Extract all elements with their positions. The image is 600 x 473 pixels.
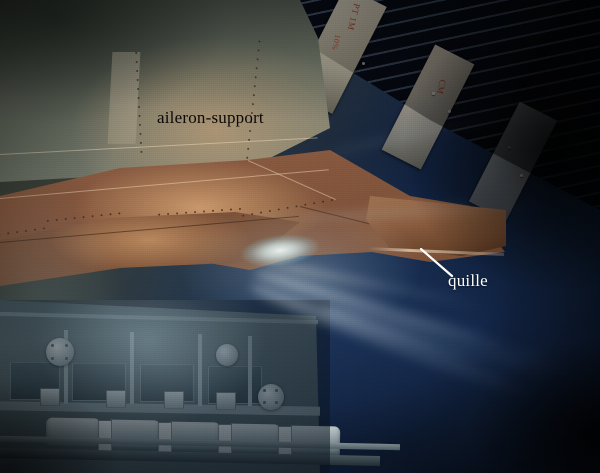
annotation-label-aileron-support: aileron-support <box>157 108 264 128</box>
right-side-darkening <box>0 0 600 473</box>
annotation-label-quille: quille <box>448 271 488 291</box>
wind-tunnel-photograph: PT 1M 10% CM <box>0 0 600 473</box>
